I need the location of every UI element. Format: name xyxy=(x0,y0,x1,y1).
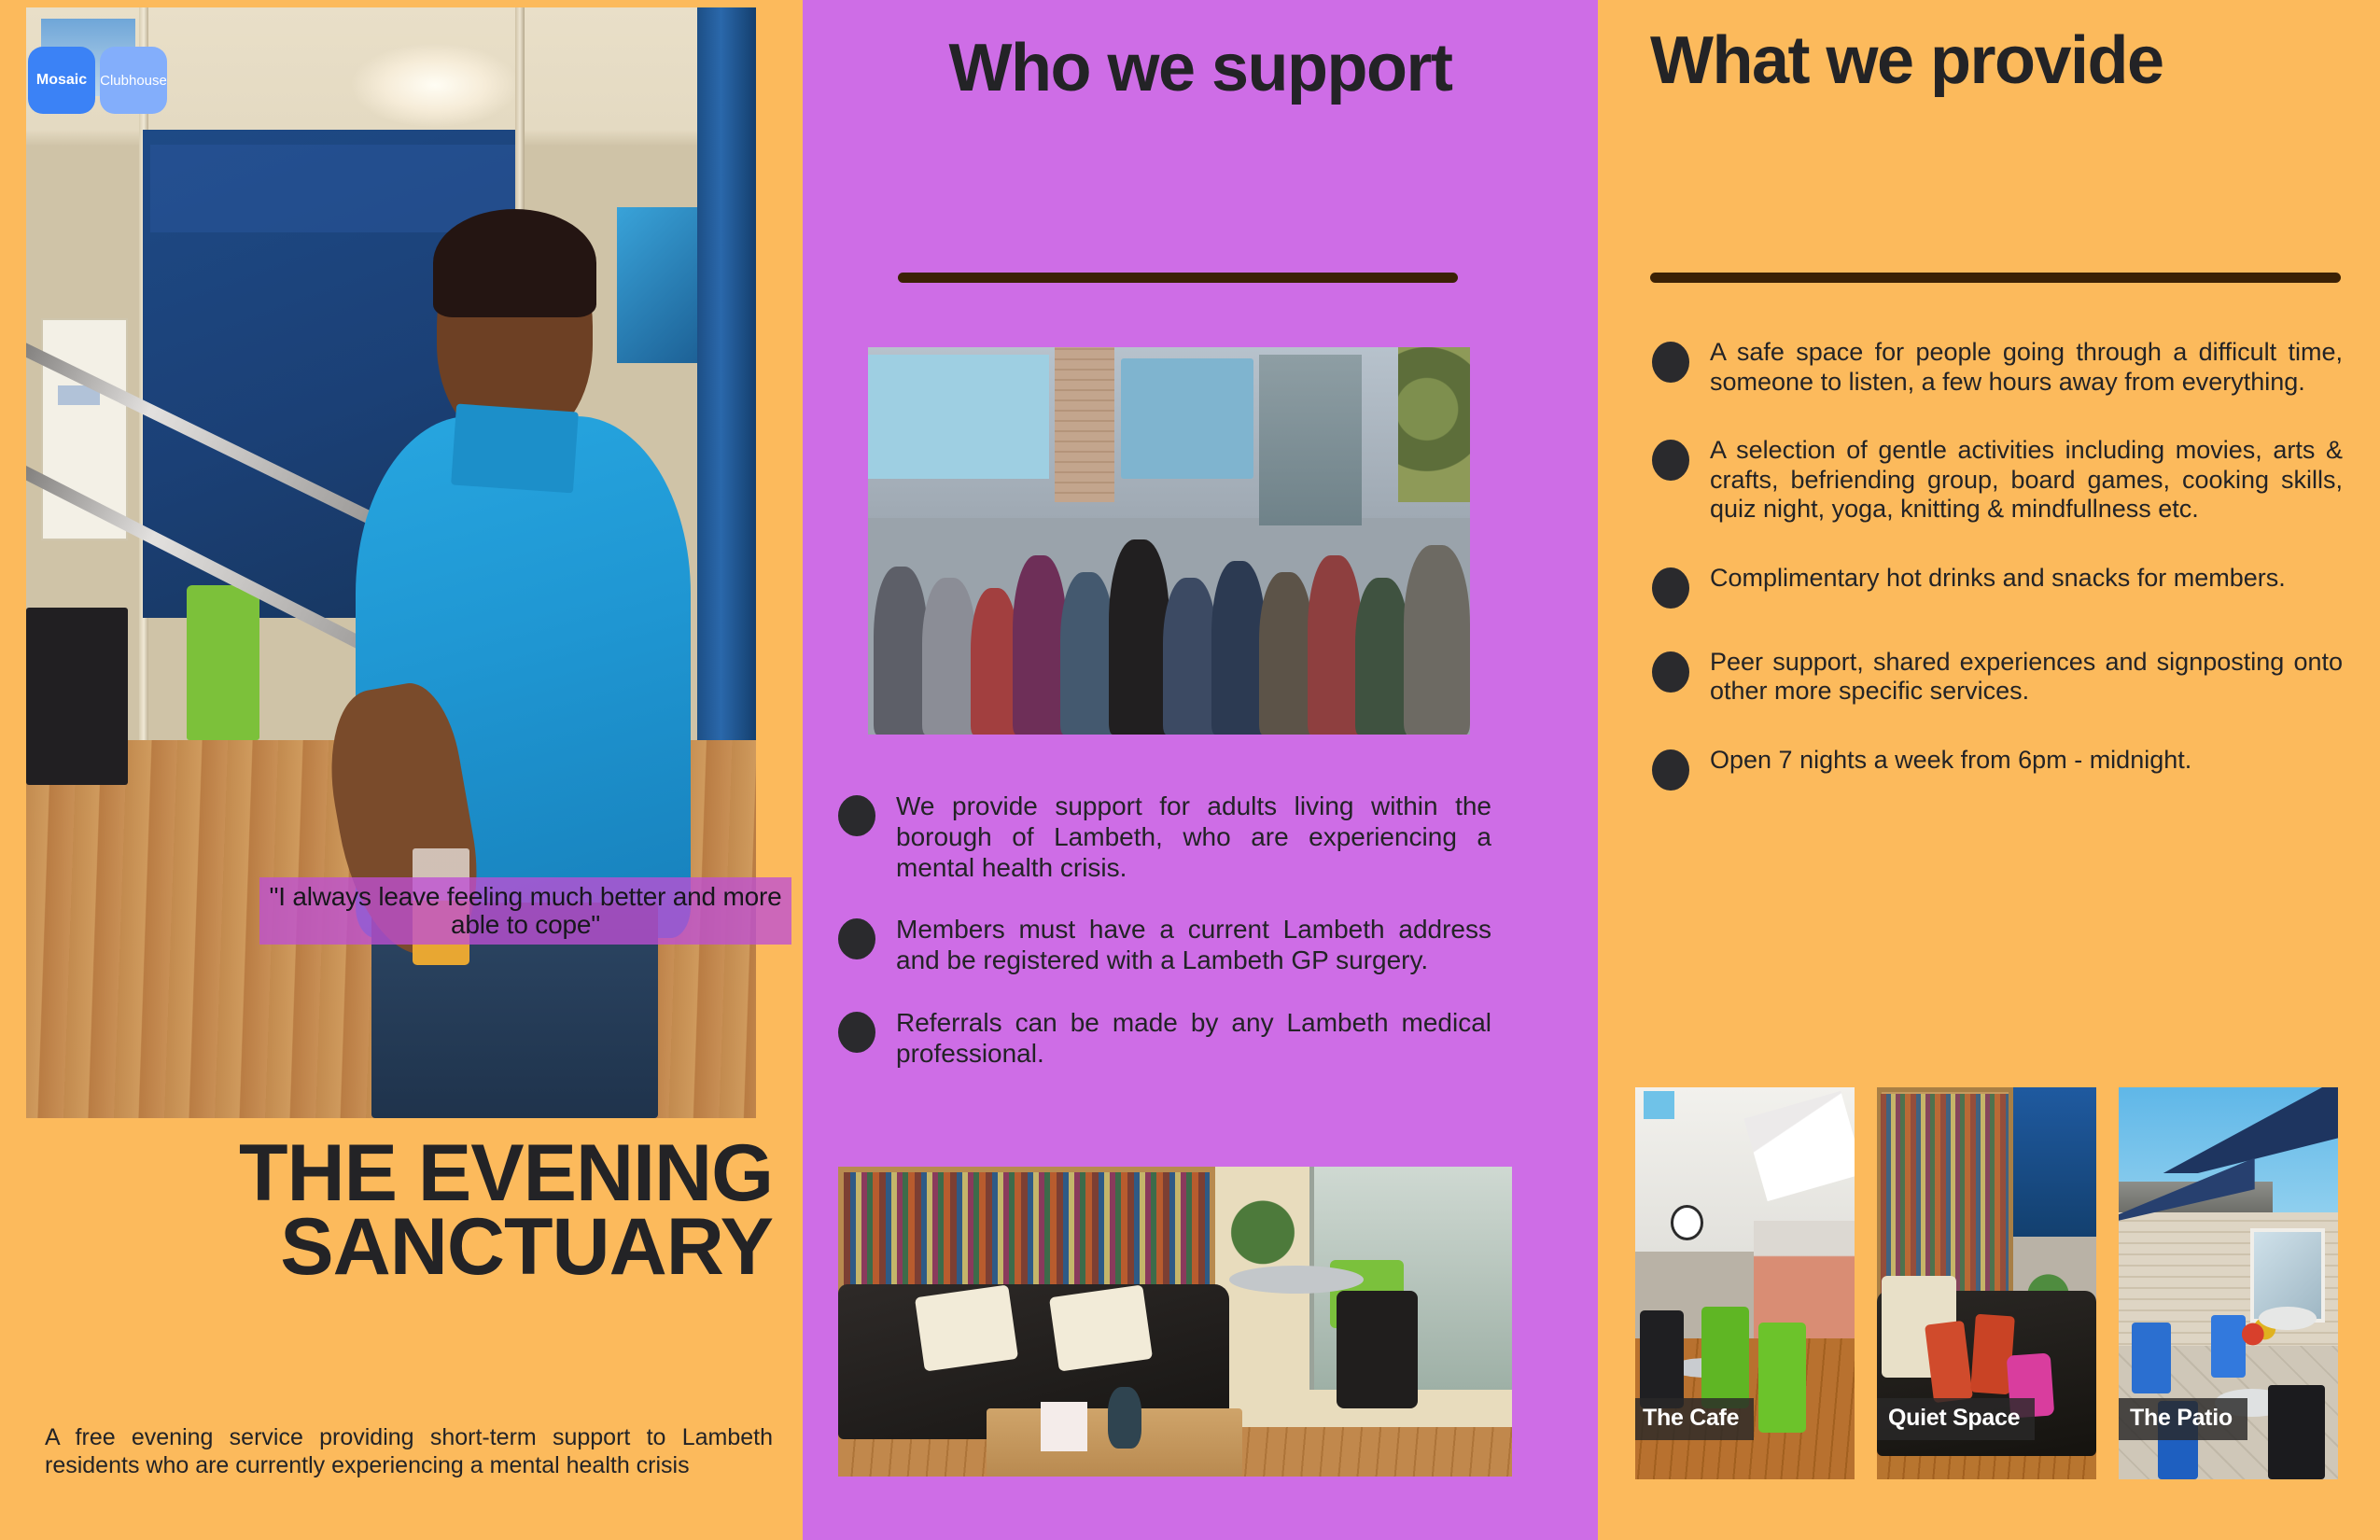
bullet-dot-icon xyxy=(838,795,875,836)
bullet-dot-icon xyxy=(1652,440,1689,481)
who-we-support-heading: Who we support xyxy=(847,37,1553,99)
list-item: A safe space for people going through a … xyxy=(1652,338,2343,397)
bullet-dot-icon xyxy=(1652,651,1689,693)
facility-thumbnails: The Cafe Quiet Space The Patio xyxy=(1635,1087,2338,1479)
logo-tile-clubhouse: Clubhouse xyxy=(100,47,167,114)
poster-root: Mosaic Clubhouse "I always leave feeling… xyxy=(0,0,2380,1540)
what-we-provide-divider xyxy=(1650,273,2341,283)
thumbnail-label: The Cafe xyxy=(1635,1398,1754,1440)
list-item-text: Referrals can be made by any Lambeth med… xyxy=(896,1008,1491,1070)
bullet-dot-icon xyxy=(838,1012,875,1053)
list-item-text: A selection of gentle activities includi… xyxy=(1710,436,2343,525)
lounge-photo xyxy=(838,1167,1512,1477)
thumbnail-label: The Patio xyxy=(2119,1398,2247,1440)
thumbnail-the-cafe: The Cafe xyxy=(1635,1087,1855,1479)
mosaic-clubhouse-logo: Mosaic Clubhouse xyxy=(28,47,167,114)
who-we-support-bullets: We provide support for adults living wit… xyxy=(838,791,1491,1069)
what-we-provide-heading-wrap: What we provide xyxy=(1650,30,2247,91)
left-column: Mosaic Clubhouse "I always leave feeling… xyxy=(0,0,803,1540)
list-item: We provide support for adults living wit… xyxy=(838,791,1491,883)
list-item-text: Peer support, shared experiences and sig… xyxy=(1710,648,2343,707)
page-subtitle: A free evening service providing short-t… xyxy=(45,1423,773,1479)
what-we-provide-bullets: A safe space for people going through a … xyxy=(1652,338,2343,830)
list-item-text: Open 7 nights a week from 6pm - midnight… xyxy=(1710,746,2191,791)
member-quote-banner: "I always leave feeling much better and … xyxy=(259,877,791,945)
list-item-text: We provide support for adults living wit… xyxy=(896,791,1491,883)
photo-decor xyxy=(187,585,259,741)
page-title: THE EVENING SANCTUARY xyxy=(0,1137,773,1284)
what-we-provide-heading: What we provide xyxy=(1650,30,2247,91)
group-photo xyxy=(868,347,1470,735)
list-item-text: A safe space for people going through a … xyxy=(1710,338,2343,397)
list-item: Members must have a current Lambeth addr… xyxy=(838,915,1491,976)
list-item: Complimentary hot drinks and snacks for … xyxy=(1652,564,2343,609)
bullet-dot-icon xyxy=(1652,749,1689,791)
thumbnail-quiet-space: Quiet Space xyxy=(1877,1087,2096,1479)
who-we-support-heading-wrap: Who we support xyxy=(803,37,1598,99)
bullet-dot-icon xyxy=(1652,342,1689,383)
list-item: Referrals can be made by any Lambeth med… xyxy=(838,1008,1491,1070)
list-item: A selection of gentle activities includi… xyxy=(1652,436,2343,525)
who-we-support-divider xyxy=(898,273,1458,283)
group-photo-people xyxy=(868,464,1470,735)
list-item: Open 7 nights a week from 6pm - midnight… xyxy=(1652,746,2343,791)
hero-photo-member xyxy=(26,7,756,1118)
member-quote-text: "I always leave feeling much better and … xyxy=(259,883,791,939)
thumbnail-the-patio: The Patio xyxy=(2119,1087,2338,1479)
list-item-text: Complimentary hot drinks and snacks for … xyxy=(1710,564,2286,609)
photo-decor xyxy=(26,608,128,785)
bullet-dot-icon xyxy=(838,918,875,959)
logo-text-clubhouse: Clubhouse xyxy=(100,73,167,89)
photo-person xyxy=(347,218,756,1118)
logo-tile-mosaic: Mosaic xyxy=(28,47,95,114)
bullet-dot-icon xyxy=(1652,567,1689,609)
list-item: Peer support, shared experiences and sig… xyxy=(1652,648,2343,707)
list-item-text: Members must have a current Lambeth addr… xyxy=(896,915,1491,976)
logo-text-mosaic: Mosaic xyxy=(36,72,87,89)
thumbnail-label: Quiet Space xyxy=(1877,1398,2035,1440)
